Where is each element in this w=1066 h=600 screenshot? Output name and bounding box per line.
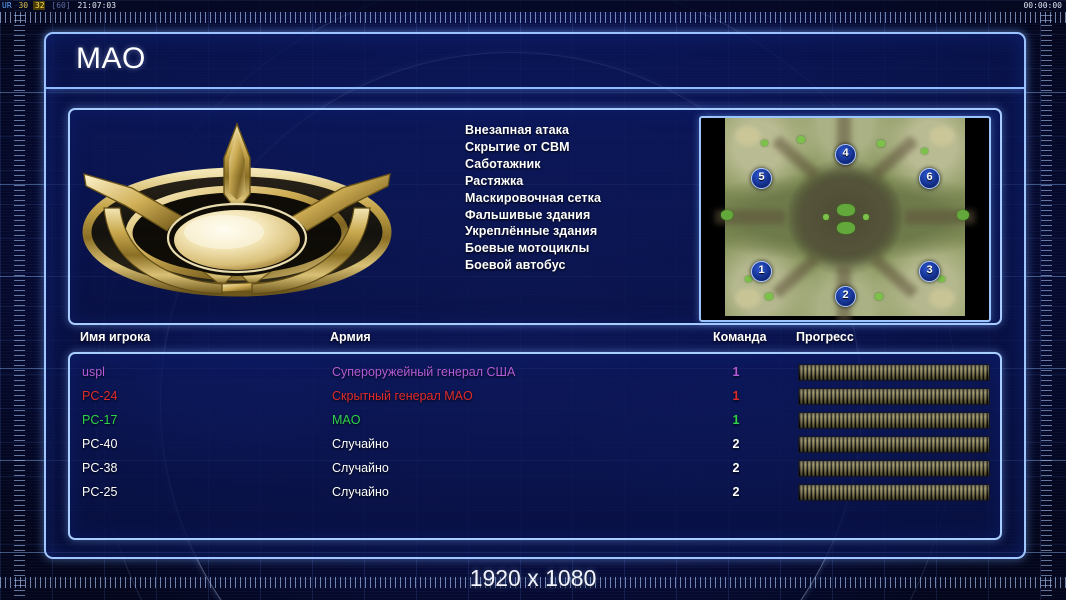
table-row[interactable]: PC-40Случайно2	[70, 432, 1000, 456]
cell-player-name: PC-17	[82, 408, 117, 432]
minimap-frame: 123456	[699, 116, 991, 322]
faction-emblem-icon	[82, 116, 392, 316]
ability-item: Скрытие от СВМ	[465, 139, 601, 156]
cell-army: Случайно	[332, 456, 389, 480]
cell-player-name: PC-38	[82, 456, 117, 480]
faction-info-panel: Внезапная атака Скрытие от СВМ Саботажни…	[68, 108, 1002, 325]
progress-bar	[798, 364, 990, 381]
cell-player-name: PC-24	[82, 384, 117, 408]
title-bar: MAO	[46, 34, 1024, 89]
ability-item: Саботажник	[465, 156, 601, 173]
table-row[interactable]: usplСупероружейный генерал США1	[70, 360, 1000, 384]
player-list: usplСупероружейный генерал США1PC-24Скры…	[68, 352, 1002, 540]
cell-army: MAO	[332, 408, 360, 432]
progress-bar	[798, 388, 990, 405]
ruler-right	[1041, 0, 1052, 600]
minimap-start-position-2: 2	[835, 286, 856, 307]
cell-player-name: PC-25	[82, 480, 117, 504]
resolution-label: 1920 x 1080	[0, 565, 1066, 592]
minimap-start-position-1: 1	[751, 261, 772, 282]
ability-item: Маскировочная сетка	[465, 190, 601, 207]
status-bar: UR 30 32 [60] 21:07:03 00:00:00	[0, 0, 1066, 12]
cell-player-name: uspl	[82, 360, 105, 384]
progress-bar	[798, 436, 990, 453]
header-army: Армия	[330, 330, 371, 344]
status-bracket: [60]	[49, 1, 70, 10]
cell-team: 1	[725, 360, 747, 384]
progress-bar	[798, 484, 990, 501]
status-value-1: 30	[16, 1, 28, 10]
table-row[interactable]: PC-17MAO1	[70, 408, 1000, 432]
header-progress: Прогресс	[796, 330, 854, 344]
ability-item: Растяжка	[465, 173, 601, 190]
table-row[interactable]: PC-24Скрытный генерал MAO1	[70, 384, 1000, 408]
ability-item: Укреплённые здания	[465, 223, 601, 240]
ability-item: Боевой автобус	[465, 257, 601, 274]
minimap-start-position-5: 5	[751, 168, 772, 189]
minimap: 123456	[725, 118, 965, 316]
header-player-name: Имя игрока	[80, 330, 150, 344]
cell-army: Скрытный генерал MAO	[332, 384, 473, 408]
cell-team: 2	[725, 432, 747, 456]
page-title: MAO	[76, 42, 146, 76]
loading-screen-panel: MAO	[44, 32, 1026, 559]
cell-army: Случайно	[332, 432, 389, 456]
game-screen: UR 30 32 [60] 21:07:03 00:00:00 MAO	[0, 0, 1066, 600]
ability-item: Внезапная атака	[465, 122, 601, 139]
ability-item: Фальшивые здания	[465, 207, 601, 224]
cell-team: 1	[725, 384, 747, 408]
cell-team: 2	[725, 480, 747, 504]
progress-bar	[798, 412, 990, 429]
status-value-2: 32	[33, 1, 45, 10]
ruler-left	[14, 0, 25, 600]
header-team: Команда	[713, 330, 767, 344]
cell-team: 2	[725, 456, 747, 480]
table-row[interactable]: PC-38Случайно2	[70, 456, 1000, 480]
ability-list: Внезапная атака Скрытие от СВМ Саботажни…	[465, 122, 601, 274]
ability-item: Боевые мотоциклы	[465, 240, 601, 257]
status-label: UR	[0, 1, 12, 10]
minimap-start-position-4: 4	[835, 144, 856, 165]
ruler-top	[0, 12, 1066, 23]
cell-army: Случайно	[332, 480, 389, 504]
progress-bar	[798, 460, 990, 477]
minimap-start-position-3: 3	[919, 261, 940, 282]
status-clock: 21:07:03	[76, 1, 117, 10]
cell-army: Супероружейный генерал США	[332, 360, 515, 384]
cell-team: 1	[725, 408, 747, 432]
cell-player-name: PC-40	[82, 432, 117, 456]
table-headers: Имя игрока Армия Команда Прогресс	[68, 330, 998, 352]
session-timer: 00:00:00	[1023, 0, 1062, 12]
minimap-start-position-6: 6	[919, 168, 940, 189]
table-row[interactable]: PC-25Случайно2	[70, 480, 1000, 504]
